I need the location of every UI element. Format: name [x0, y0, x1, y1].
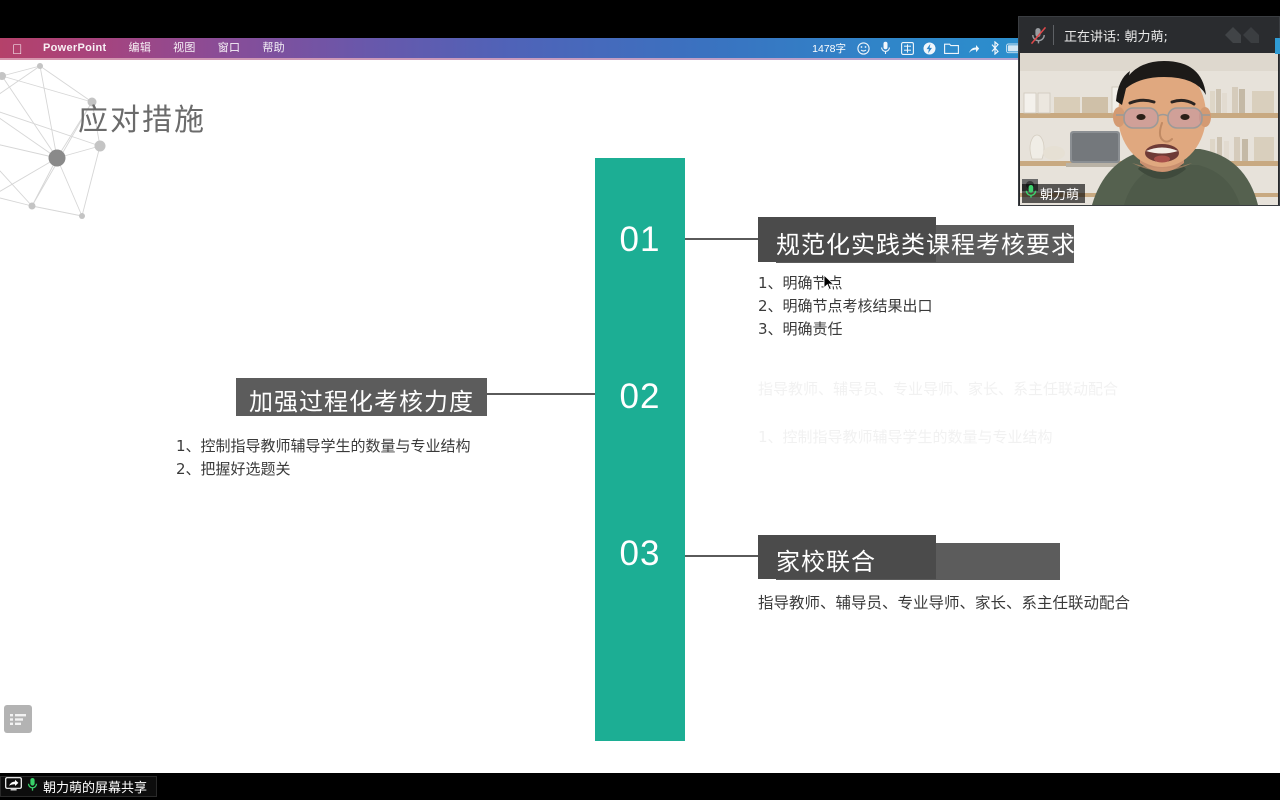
bullet-item: 指导教师、辅导员、专业导师、家长、系主任联动配合 [758, 592, 1130, 615]
section-heading-03: 家校联合 [776, 542, 876, 577]
participant-video-image [1020, 53, 1278, 205]
section-number-01: 01 [595, 220, 685, 260]
slide-title: 应对措施 [78, 95, 206, 139]
menu-item-window[interactable]: 窗口 [207, 38, 252, 58]
section-bullets-02: 1、控制指导教师辅导学生的数量与专业结构 2、把握好选题关 [176, 435, 471, 481]
microphone-icon[interactable] [874, 38, 896, 58]
menu-bar-edge-strip [1275, 38, 1280, 54]
zoom-panel-header: 正在讲话: 朝力萌; [1019, 17, 1279, 53]
screen-root: PowerPoint 编辑 视图 窗口 帮助 1478字 [0, 0, 1280, 800]
mouse-cursor [823, 274, 835, 292]
timeline-column: 01 02 03 [595, 158, 685, 741]
screen-share-icon [5, 777, 22, 796]
screen-share-status-text: 朝力萌的屏幕共享 [43, 777, 147, 796]
participant-name-chip: 朝力萌 [1022, 184, 1085, 203]
screen-share-status-bar[interactable]: 朝力萌的屏幕共享 [0, 776, 157, 797]
menu-item-powerpoint[interactable]: PowerPoint [32, 38, 118, 58]
section-number-02: 02 [595, 377, 685, 417]
bluetooth-icon[interactable] [984, 38, 1006, 58]
ghost-text: 指导教师、辅导员、专业导师、家长、系主任联动配合 [758, 378, 1118, 399]
connector-line-02 [487, 393, 595, 395]
word-count-status: 1478字 [806, 41, 852, 56]
folder-icon[interactable] [940, 38, 962, 58]
apple-logo-icon[interactable] [12, 41, 25, 56]
menu-item-edit[interactable]: 编辑 [118, 38, 163, 58]
zoom-chevron-logo-icon [1223, 22, 1269, 49]
bottom-black-bar [0, 773, 1280, 800]
smiley-icon[interactable] [852, 38, 874, 58]
bullet-item: 2、明确节点考核结果出口 [758, 295, 933, 318]
section-heading-02: 加强过程化考核力度 [249, 382, 474, 417]
slide-list-button[interactable] [4, 705, 32, 733]
section-number-03: 03 [595, 534, 685, 574]
menu-item-help[interactable]: 帮助 [251, 38, 296, 58]
participant-video-tile[interactable]: 朝力萌 [1020, 53, 1278, 205]
menu-bar-left-group: PowerPoint 编辑 视图 窗口 帮助 [0, 38, 296, 58]
section-bullets-03: 指导教师、辅导员、专业导师、家长、系主任联动配合 [758, 592, 1130, 615]
speaking-status-label: 正在讲话: 朝力萌; [1064, 26, 1168, 45]
section-bullets-01: 1、明确节点 2、明确节点考核结果出口 3、明确责任 [758, 272, 933, 341]
bullet-item: 1、明确节点 [758, 272, 933, 295]
bullet-item: 1、控制指导教师辅导学生的数量与专业结构 [176, 435, 471, 458]
bolt-icon[interactable] [918, 38, 940, 58]
slide-list-icon [10, 713, 26, 726]
network-decoration-graphic [0, 58, 192, 276]
section-heading-01: 规范化实践类课程考核要求 [776, 225, 1076, 260]
bullet-item: 2、把握好选题关 [176, 458, 471, 481]
header-divider [1053, 25, 1054, 45]
participant-name: 朝力萌 [1040, 184, 1079, 203]
zoom-video-panel[interactable]: 正在讲话: 朝力萌; [1018, 16, 1280, 206]
menu-item-view[interactable]: 视图 [162, 38, 207, 58]
screen-share-icon[interactable] [962, 38, 984, 58]
input-method-chinese-icon[interactable] [896, 38, 918, 58]
ghost-text: 1、控制指导教师辅导学生的数量与专业结构 [758, 426, 1053, 447]
bullet-item: 3、明确责任 [758, 318, 933, 341]
microphone-icon [27, 777, 38, 797]
microphone-active-icon [1025, 184, 1037, 204]
microphone-muted-icon[interactable] [1027, 24, 1049, 46]
